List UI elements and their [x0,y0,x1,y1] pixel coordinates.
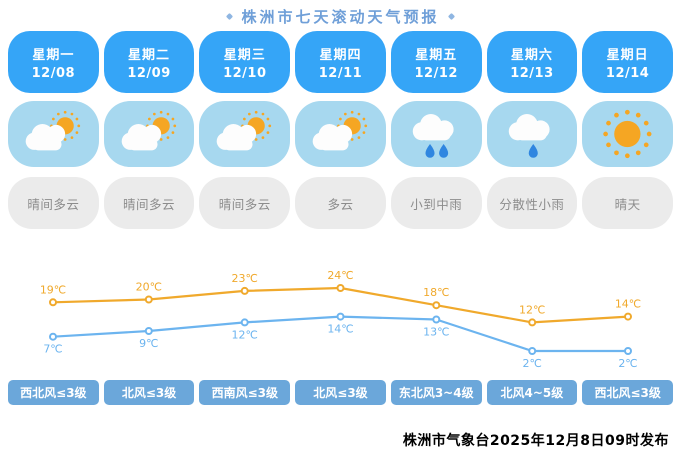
sun-behind-cloud-icon [199,101,290,167]
day-weekday: 星期一 [32,44,74,63]
condition-pill: 晴间多云 [199,177,290,229]
svg-text:2℃: 2℃ [618,357,637,370]
day-card[interactable]: 星期五12/12 [391,31,482,93]
svg-text:12℃: 12℃ [519,303,545,316]
condition-pill: 小到中雨 [391,177,482,229]
svg-text:7℃: 7℃ [43,343,62,356]
temperature-chart: 19℃20℃23℃24℃18℃12℃14℃7℃9℃12℃14℃13℃2℃2℃ [0,240,681,375]
svg-text:24℃: 24℃ [327,269,353,282]
day-date: 12/13 [510,66,553,81]
day-card[interactable]: 星期日12/14 [582,31,673,93]
day-weekday: 星期二 [128,44,170,63]
svg-text:20℃: 20℃ [136,281,162,294]
condition-pill: 分散性小雨 [487,177,578,229]
svg-text:2℃: 2℃ [523,357,542,370]
sun-behind-cloud-icon [104,101,195,167]
svg-text:13℃: 13℃ [423,326,449,339]
wind-pill: 北风≤3级 [104,380,195,405]
condition-row: 晴间多云晴间多云晴间多云多云小到中雨分散性小雨晴天 [8,177,673,229]
svg-text:9℃: 9℃ [139,337,158,350]
day-card[interactable]: 星期六12/13 [487,31,578,93]
wind-pill: 西北风≤3级 [582,380,673,405]
condition-pill: 晴间多云 [104,177,195,229]
day-card[interactable]: 星期一12/08 [8,31,99,93]
svg-text:18℃: 18℃ [423,286,449,299]
day-card[interactable]: 星期四12/11 [295,31,386,93]
condition-pill: 多云 [295,177,386,229]
rain-cloud-light-icon [487,101,578,167]
condition-pill: 晴间多云 [8,177,99,229]
day-date: 12/11 [319,66,362,81]
wind-pill: 东北风3~4级 [391,380,482,405]
page-title: 株洲市七天滚动天气预报 [241,6,439,27]
day-date: 12/14 [606,66,649,81]
wind-pill: 北风4~5级 [487,380,578,405]
day-date: 12/12 [414,66,457,81]
diamond-dot-icon [447,12,454,19]
sun-icon [582,101,673,167]
svg-text:23℃: 23℃ [232,272,258,285]
svg-text:14℃: 14℃ [615,298,641,311]
day-card[interactable]: 星期二12/09 [104,31,195,93]
condition-pill: 晴天 [582,177,673,229]
wind-pill: 西南风≤3级 [199,380,290,405]
day-weekday: 星期日 [607,44,649,63]
issuer-statement: 株洲市气象台2025年12月8日09时发布 [403,430,669,450]
rain-cloud-heavy-icon [391,101,482,167]
sun-behind-cloud-icon [295,101,386,167]
sun-behind-cloud-icon [8,101,99,167]
day-date: 12/09 [127,66,170,81]
diamond-dot-icon [226,12,233,19]
day-weekday: 星期六 [511,44,553,63]
svg-text:14℃: 14℃ [327,323,353,336]
page-title-row: 株洲市七天滚动天气预报 [0,4,681,28]
wind-pill: 北风≤3级 [295,380,386,405]
day-card[interactable]: 星期三12/10 [199,31,290,93]
wind-pill: 西北风≤3级 [8,380,99,405]
day-weekday: 星期三 [224,44,266,63]
svg-text:12℃: 12℃ [232,328,258,341]
day-weekday: 星期五 [415,44,457,63]
day-date: 12/08 [32,66,75,81]
day-weekday: 星期四 [319,44,361,63]
day-date: 12/10 [223,66,266,81]
wind-row: 西北风≤3级北风≤3级西南风≤3级北风≤3级东北风3~4级北风4~5级西北风≤3… [8,380,673,405]
weather-icon-row [8,101,673,167]
day-card-row: 星期一12/08星期二12/09星期三12/10星期四12/11星期五12/12… [8,31,673,93]
svg-text:19℃: 19℃ [40,283,66,296]
